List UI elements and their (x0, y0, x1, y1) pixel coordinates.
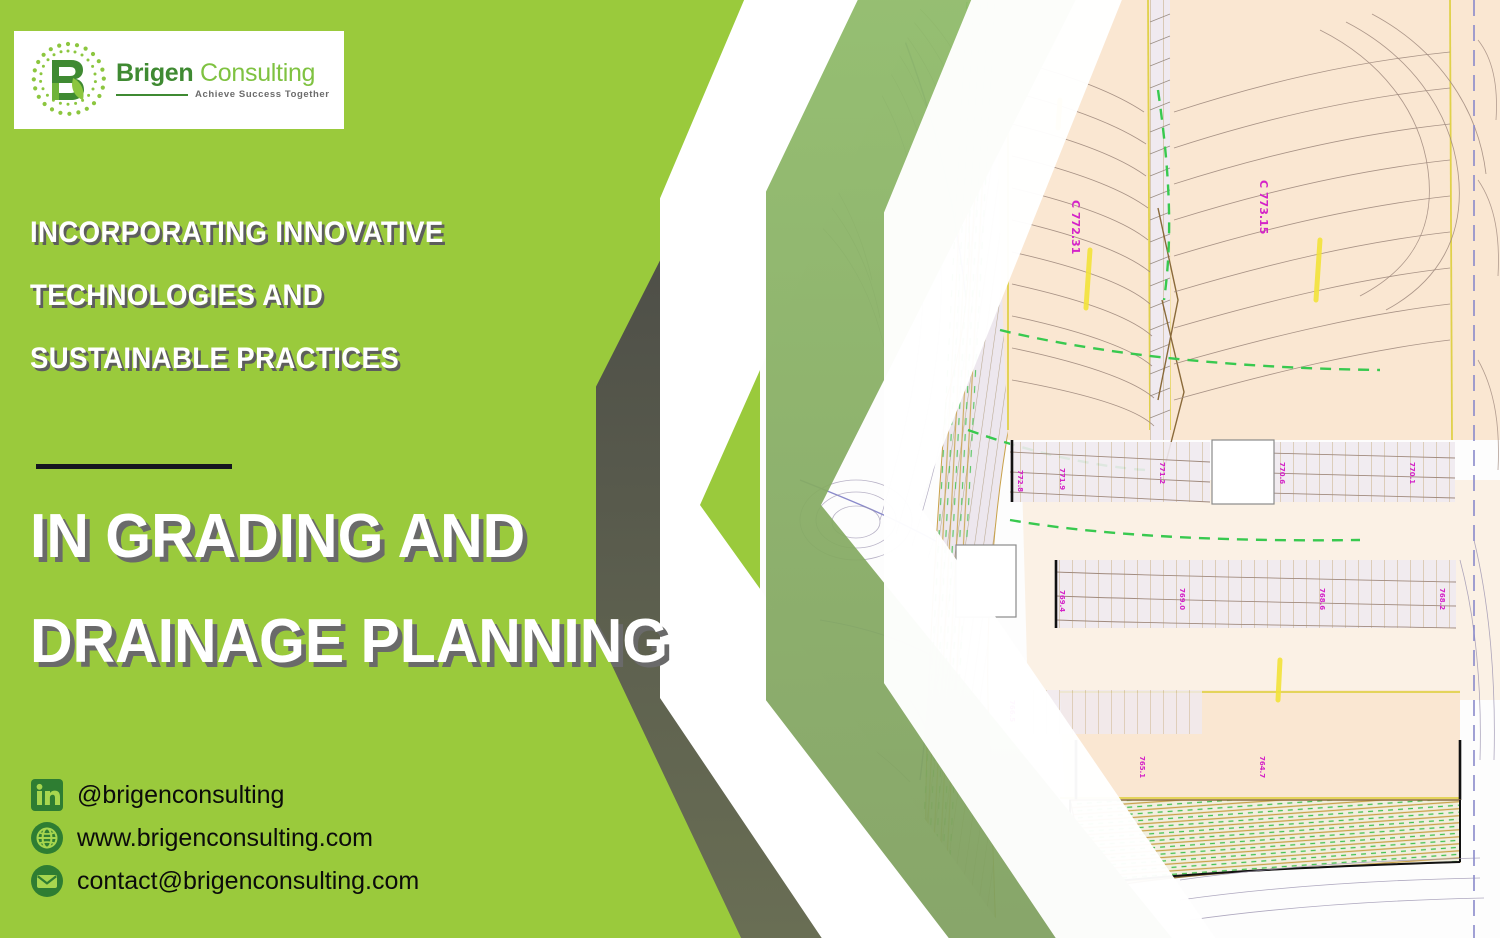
linkedin-icon (30, 778, 64, 812)
subheadline-line-3: SUSTAINABLE PRACTICES (30, 344, 619, 374)
envelope-icon (30, 864, 64, 898)
subheadline-line-2: TECHNOLOGIES AND (30, 281, 619, 311)
contact-label-email: contact@brigenconsulting.com (77, 867, 419, 896)
contact-item-email[interactable]: contact@brigenconsulting.com (30, 864, 419, 898)
contact-item-website[interactable]: www.brigenconsulting.com (30, 821, 419, 855)
poster-canvas: C 772.31 C 773.15 (0, 0, 1500, 938)
headline-divider (36, 464, 232, 469)
headline-line-1: IN GRADING AND (30, 505, 809, 568)
chevron-white-inner (884, 0, 1500, 938)
logo-name-secondary: Consulting (200, 59, 315, 87)
logo-tagline: Achieve Success Together (195, 89, 330, 100)
globe-icon (30, 821, 64, 855)
brigen-logo-mark (26, 38, 110, 122)
main-headline: IN GRADING AND DRAINAGE PLANNING (30, 505, 850, 715)
subheadline: INCORPORATING INNOVATIVE TECHNOLOGIES AN… (30, 218, 670, 407)
contact-label-website: www.brigenconsulting.com (77, 824, 373, 853)
subheadline-line-1: INCORPORATING INNOVATIVE (30, 218, 619, 248)
logo-wordmark: Brigen Consulting (116, 60, 330, 86)
contact-item-linkedin[interactable]: @brigenconsulting (30, 778, 419, 812)
logo-card: Brigen Consulting Achieve Success Togeth… (14, 31, 344, 129)
contact-label-linkedin: @brigenconsulting (77, 781, 284, 810)
headline-line-2: DRAINAGE PLANNING (30, 610, 809, 673)
logo-rule (116, 94, 188, 96)
logo-name-primary: Brigen (116, 59, 193, 87)
contact-block: @brigenconsulting www.brigenconsulting.c… (30, 778, 419, 907)
